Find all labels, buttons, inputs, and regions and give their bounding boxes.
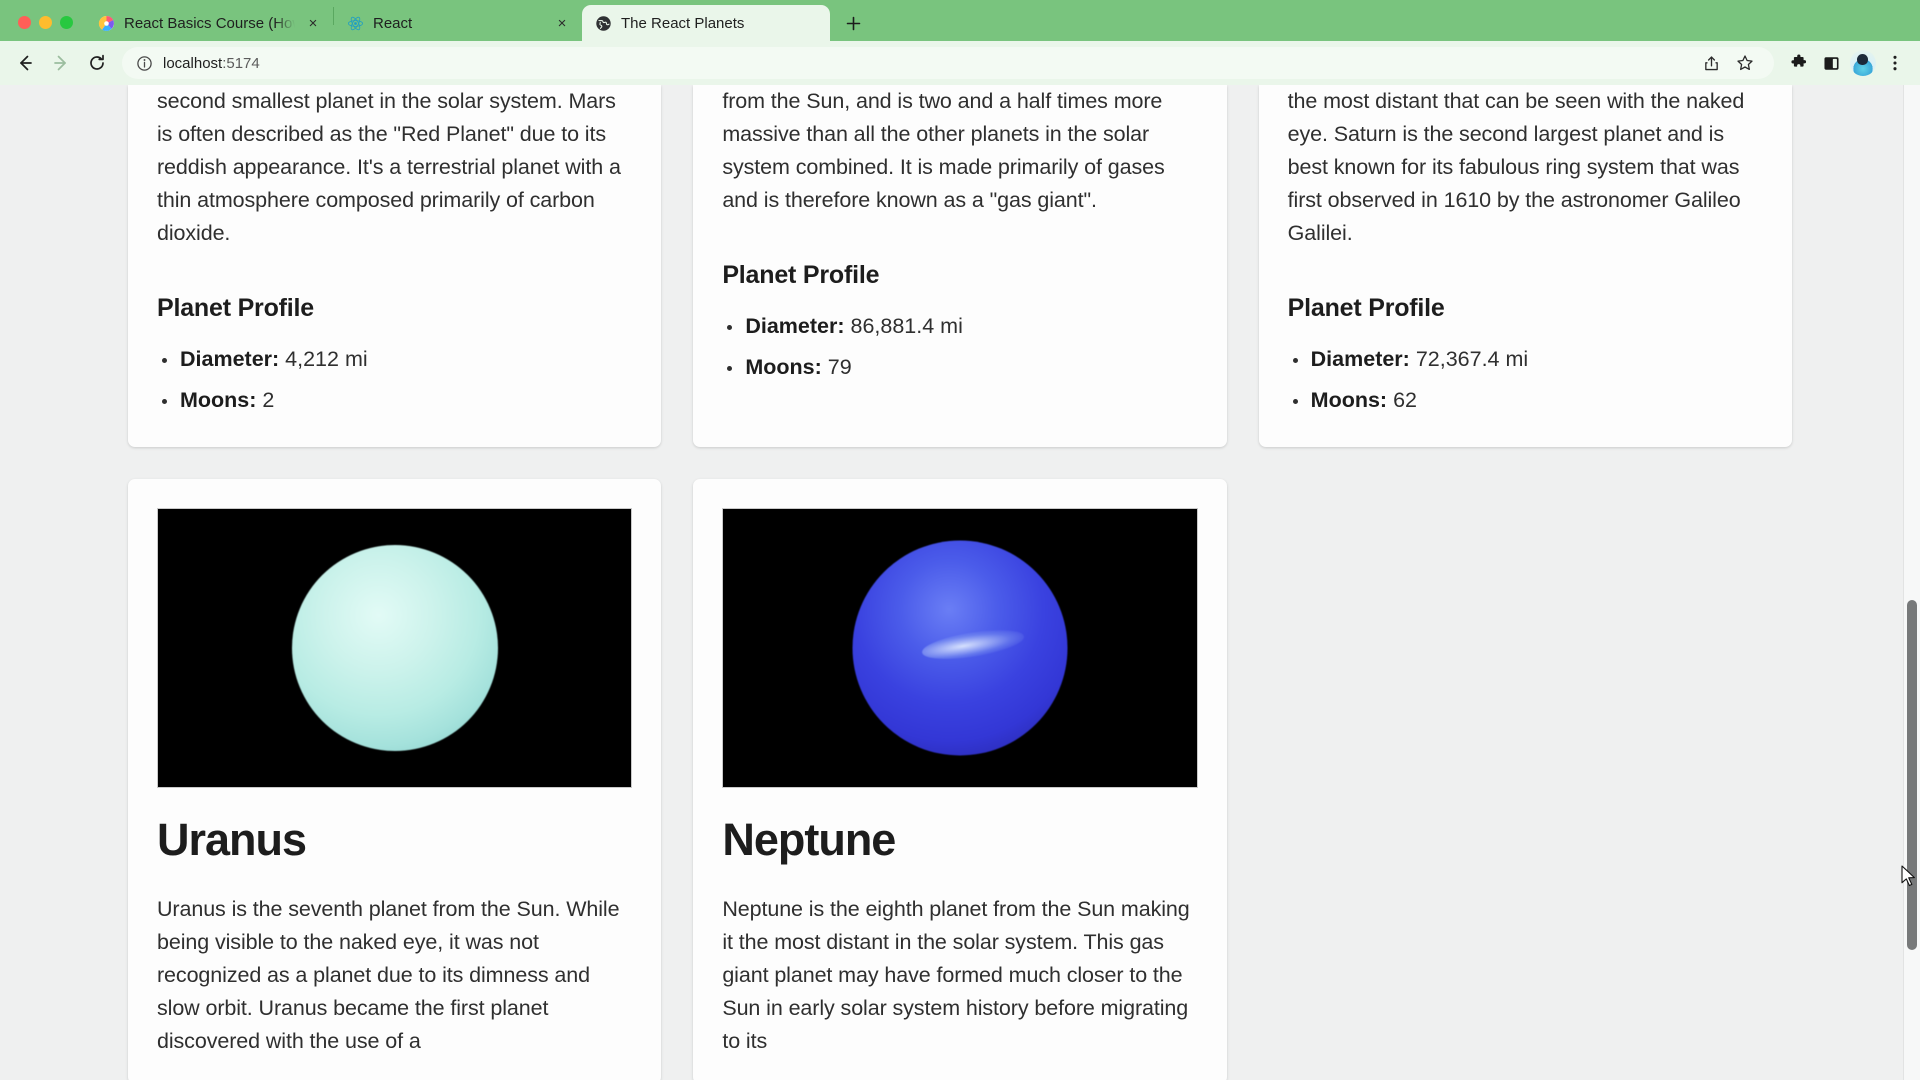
list-item-moons: Moons: 2 xyxy=(157,380,632,421)
list-item-diameter: Diameter: 86,881.4 mi xyxy=(722,306,1197,347)
page-scrollbar[interactable] xyxy=(1903,85,1920,1080)
diameter-label: Diameter: xyxy=(1311,347,1410,371)
window-traffic-lights xyxy=(10,16,85,41)
card-body: from the Sun, and is two and a half time… xyxy=(693,85,1226,388)
diameter-value: 4,212 mi xyxy=(285,347,367,371)
list-item-diameter: Diameter: 72,367.4 mi xyxy=(1288,339,1763,380)
browser-toolbar: localhost:5174 xyxy=(0,41,1920,85)
diameter-label: Diameter: xyxy=(180,347,279,371)
planet-card-jupiter[interactable]: from the Sun, and is two and a half time… xyxy=(693,85,1226,447)
diameter-label: Diameter: xyxy=(745,314,844,338)
three-dot-menu-icon[interactable] xyxy=(1880,48,1910,78)
planet-title: Uranus xyxy=(157,814,632,866)
extensions-puzzle-icon[interactable] xyxy=(1784,48,1814,78)
planet-card-uranus[interactable]: Uranus Uranus is the seventh planet from… xyxy=(128,479,661,1080)
planet-description: Neptune is the eighth planet from the Su… xyxy=(722,893,1197,1058)
side-panel-icon[interactable] xyxy=(1816,48,1846,78)
planet-profile-heading: Planet Profile xyxy=(157,294,632,323)
url-host: localhost xyxy=(163,55,222,72)
planet-description: second smallest planet in the solar syst… xyxy=(157,85,632,250)
list-item-diameter: Diameter: 4,212 mi xyxy=(157,339,632,380)
moons-label: Moons: xyxy=(745,355,821,379)
globe-favicon xyxy=(595,15,612,32)
card-body: the most distant that can be seen with t… xyxy=(1259,85,1792,421)
profile-avatar[interactable] xyxy=(1848,48,1878,78)
bookmark-star-icon[interactable] xyxy=(1730,48,1760,78)
share-icon[interactable] xyxy=(1696,48,1726,78)
planet-profile-heading: Planet Profile xyxy=(722,261,1197,290)
planet-profile-heading: Planet Profile xyxy=(1288,294,1763,323)
new-tab-button[interactable] xyxy=(838,8,868,38)
omnibox-actions xyxy=(1696,48,1760,78)
planet-title: Neptune xyxy=(722,814,1197,866)
tab-strip: React Basics Course (How To × React × xyxy=(0,0,1920,41)
uranus-sphere xyxy=(292,545,498,751)
planet-profile-list: Diameter: 4,212 mi Moons: 2 xyxy=(157,339,632,421)
scrollbar-thumb[interactable] xyxy=(1907,600,1917,950)
close-tab-button[interactable]: × xyxy=(304,14,322,32)
list-item-moons: Moons: 62 xyxy=(1288,380,1763,421)
planet-description: the most distant that can be seen with t… xyxy=(1288,85,1763,250)
planet-card-grid: second smallest planet in the solar syst… xyxy=(128,85,1792,1080)
tab-react-basics-course[interactable]: React Basics Course (How To × xyxy=(85,5,333,41)
planet-card-neptune[interactable]: Neptune Neptune is the eighth planet fro… xyxy=(693,479,1226,1080)
planet-card-saturn[interactable]: the most distant that can be seen with t… xyxy=(1259,85,1792,447)
moons-label: Moons: xyxy=(180,388,256,412)
url-port: :5174 xyxy=(222,55,260,72)
tab-title: React Basics Course (How To xyxy=(124,15,295,32)
planet-description: Uranus is the seventh planet from the Su… xyxy=(157,893,632,1058)
card-body: Uranus Uranus is the seventh planet from… xyxy=(128,814,661,1058)
tab-react[interactable]: React × xyxy=(334,5,582,41)
tab-title: React xyxy=(373,15,544,32)
list-item-moons: Moons: 79 xyxy=(722,347,1197,388)
address-bar-input[interactable]: localhost:5174 xyxy=(163,55,260,72)
react-atom-favicon xyxy=(347,15,364,32)
uranus-planet-image xyxy=(157,508,632,788)
planet-card-mars[interactable]: second smallest planet in the solar syst… xyxy=(128,85,661,447)
planets-page: second smallest planet in the solar syst… xyxy=(0,85,1920,1080)
minimize-window-button[interactable] xyxy=(39,16,52,29)
planet-profile-list: Diameter: 86,881.4 mi Moons: 79 xyxy=(722,306,1197,388)
moons-value: 2 xyxy=(262,388,274,412)
tab-the-react-planets[interactable]: The React Planets × xyxy=(582,5,830,41)
close-window-button[interactable] xyxy=(18,16,31,29)
page-viewport[interactable]: second smallest planet in the solar syst… xyxy=(0,85,1920,1080)
planet-description: from the Sun, and is two and a half time… xyxy=(722,85,1197,217)
maximize-window-button[interactable] xyxy=(60,16,73,29)
moons-value: 79 xyxy=(828,355,852,379)
planet-profile-list: Diameter: 72,367.4 mi Moons: 62 xyxy=(1288,339,1763,421)
neptune-sphere xyxy=(852,541,1067,756)
diameter-value: 72,367.4 mi xyxy=(1416,347,1528,371)
address-bar[interactable]: localhost:5174 xyxy=(122,47,1774,79)
react-course-favicon xyxy=(98,15,115,32)
moons-label: Moons: xyxy=(1311,388,1387,412)
close-tab-button[interactable]: × xyxy=(553,14,571,32)
back-arrow-icon[interactable] xyxy=(8,46,42,80)
diameter-value: 86,881.4 mi xyxy=(851,314,963,338)
moons-value: 62 xyxy=(1393,388,1417,412)
card-body: second smallest planet in the solar syst… xyxy=(128,85,661,421)
avatar xyxy=(1850,50,1876,76)
card-body: Neptune Neptune is the eighth planet fro… xyxy=(693,814,1226,1058)
info-circle-icon[interactable] xyxy=(136,55,153,72)
browser-window: React Basics Course (How To × React × xyxy=(0,0,1920,1080)
neptune-planet-image xyxy=(722,508,1197,788)
forward-arrow-icon[interactable] xyxy=(44,46,78,80)
reload-icon[interactable] xyxy=(80,46,114,80)
tab-title: The React Planets xyxy=(621,15,792,32)
